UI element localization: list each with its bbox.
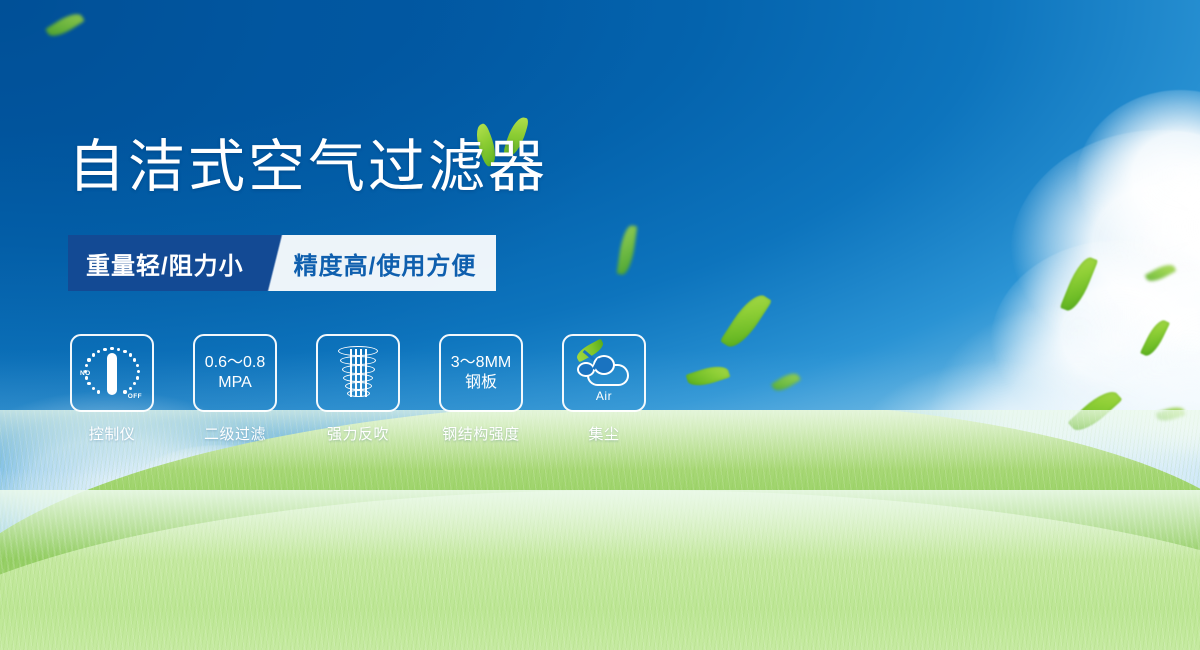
feature-icon-box: Air (562, 334, 646, 412)
tagline-right: 精度高/使用方便 (290, 235, 497, 291)
pressure-text-icon: 0.6～0.8 MPA (205, 353, 266, 394)
dial-gauge-icon: NO OFF (81, 343, 143, 403)
feature-icon-box (316, 334, 400, 412)
feature-label: 钢结构强度 (437, 423, 525, 444)
feature-label: 控制仪 (68, 423, 156, 444)
pressure-range: 0.6～0.8 (205, 354, 266, 371)
hero-banner: 自洁式空气过滤器 重量轻/阻力小 精度高/使用方便 (0, 0, 1200, 650)
feature-item-dust[interactable]: Air 集尘 (560, 334, 648, 444)
feature-icon-box: 3～8MM 钢板 (439, 334, 523, 412)
feature-icon-box: 0.6～0.8 MPA (193, 334, 277, 412)
tagline-badge: 重量轻/阻力小 精度高/使用方便 (68, 235, 496, 291)
steel-plate-text-icon: 3～8MM 钢板 (451, 353, 511, 394)
steel-thickness: 3～8MM (451, 354, 511, 371)
tagline-divider (260, 235, 290, 291)
steel-material: 钢板 (451, 373, 511, 393)
dial-label-off: OFF (128, 393, 142, 400)
dial-label-no: NO (80, 370, 91, 377)
pressure-unit: MPA (205, 373, 266, 393)
dial-needle (107, 353, 117, 395)
feature-label: 强力反吹 (314, 423, 402, 444)
feature-item-controller[interactable]: NO OFF 控制仪 (68, 334, 156, 444)
feature-item-filter[interactable]: 0.6～0.8 MPA 二级过滤 (191, 334, 279, 444)
air-text: Air (573, 389, 635, 403)
feature-list: NO OFF 控制仪 0.6～0.8 MPA 二级过滤 (68, 334, 648, 444)
grass-field (0, 410, 1200, 650)
feature-icon-box: NO OFF (70, 334, 154, 412)
page-title: 自洁式空气过滤器 (68, 139, 548, 196)
feature-label: 集尘 (560, 423, 648, 444)
cloud-small-puff (577, 362, 595, 377)
feature-label: 二级过滤 (191, 423, 279, 444)
air-blast-icon (331, 344, 385, 402)
grass-hill-front (0, 490, 1200, 650)
air-cloud-icon: Air (573, 344, 635, 402)
feature-item-steel[interactable]: 3～8MM 钢板 钢结构强度 (437, 334, 525, 444)
grass-highlight (0, 490, 1200, 560)
feature-item-backblow[interactable]: 强力反吹 (314, 334, 402, 444)
tagline-left: 重量轻/阻力小 (68, 235, 260, 291)
